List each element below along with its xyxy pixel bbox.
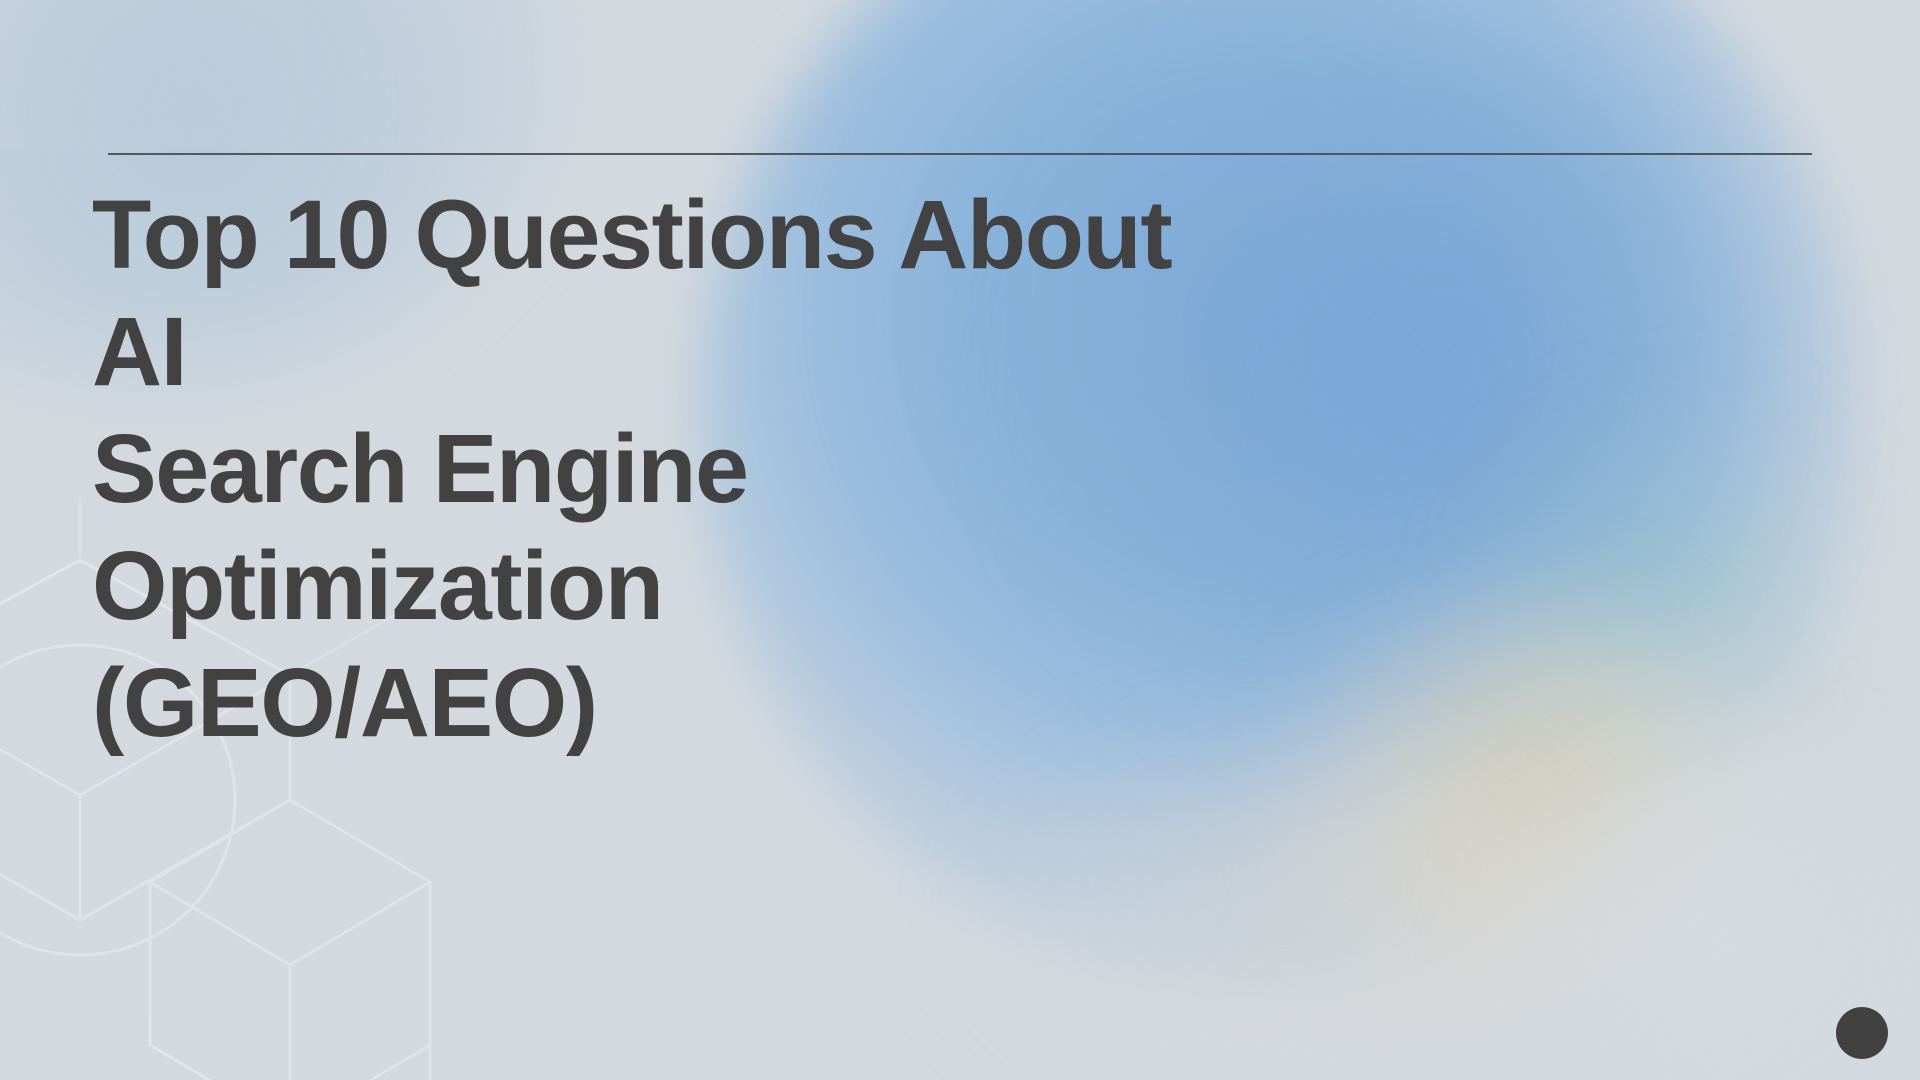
slide-content: Top 10 Questions About AI Search Engine … <box>0 0 1920 1080</box>
top-divider-rule <box>108 153 1812 155</box>
page-title: Top 10 Questions About AI Search Engine … <box>92 176 1272 761</box>
presentation-slide: Top 10 Questions About AI Search Engine … <box>0 0 1920 1080</box>
page-indicator-dot[interactable] <box>1836 1007 1888 1059</box>
